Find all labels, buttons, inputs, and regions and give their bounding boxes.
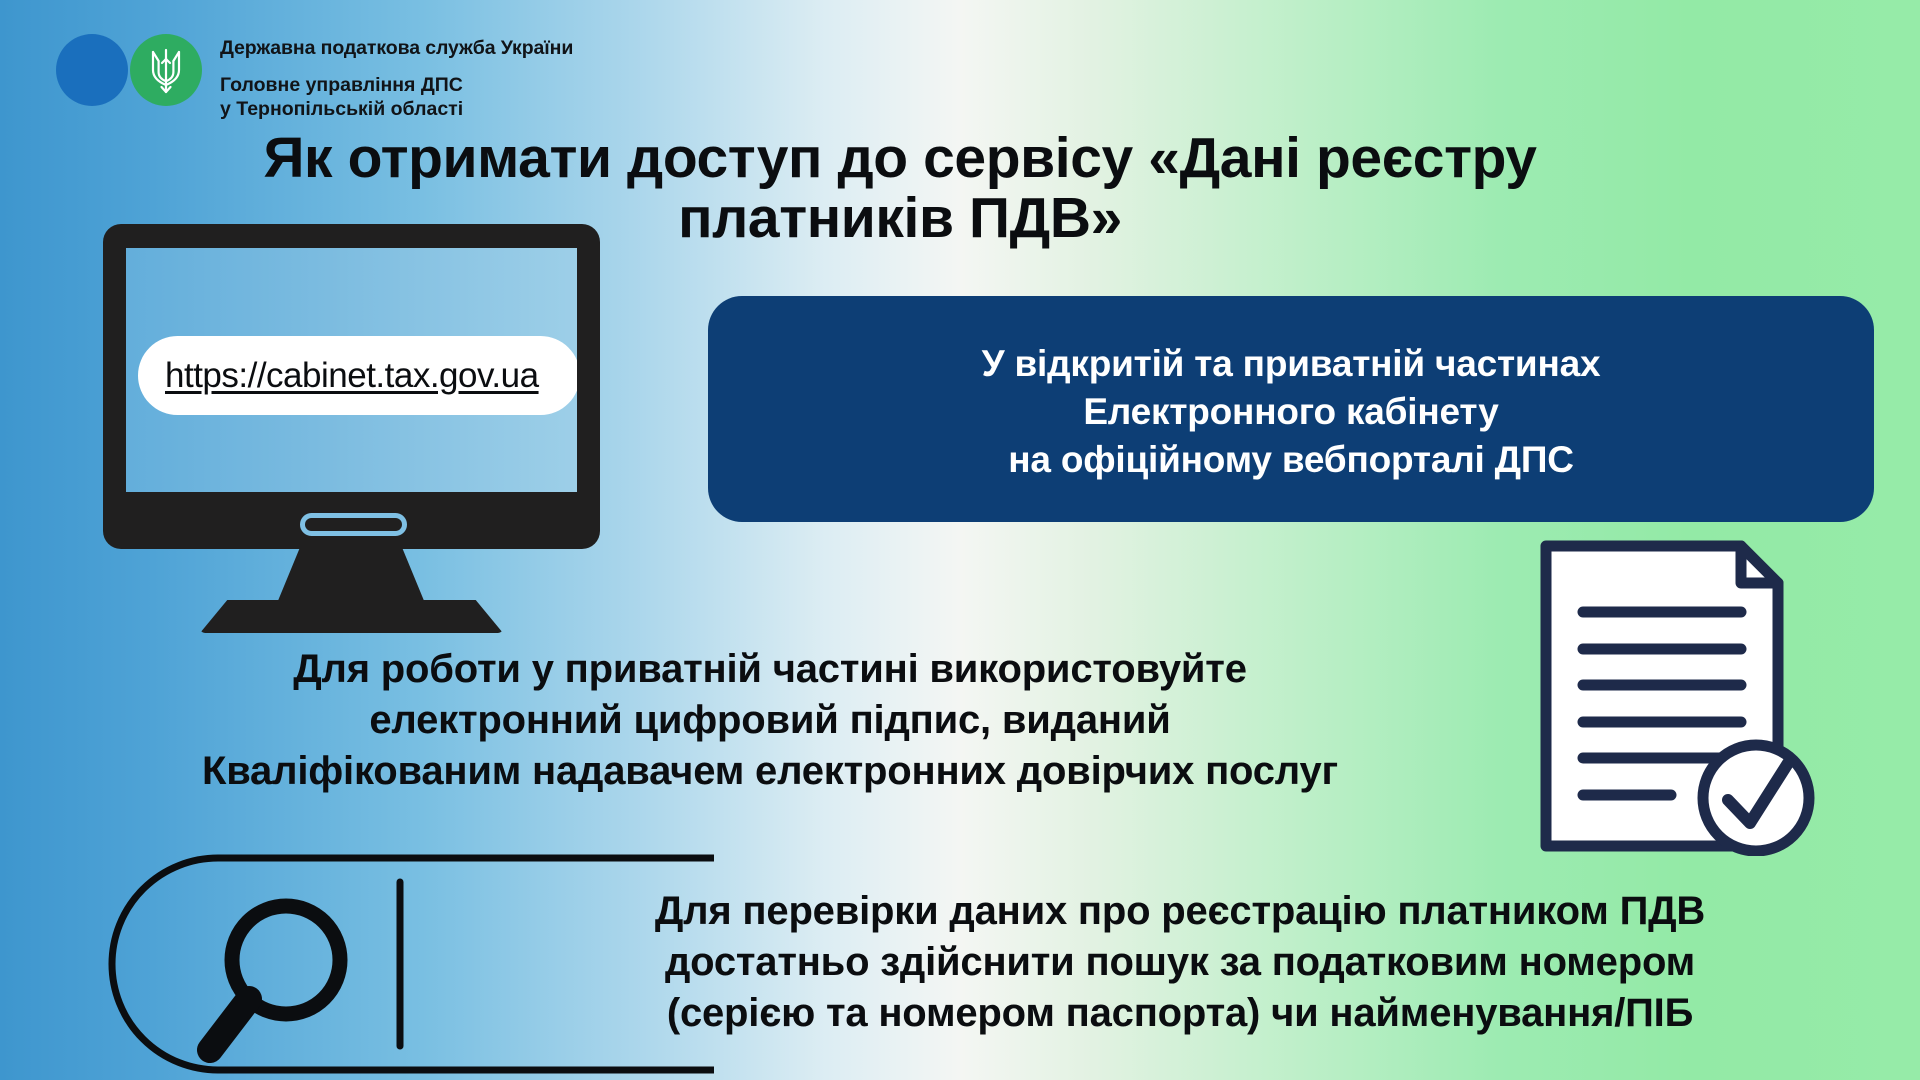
callout-text: У відкритій та приватній частинах Електр…	[982, 340, 1601, 484]
logo-green-circle-icon	[130, 34, 202, 106]
callout-line-2: Електронного кабінету	[982, 388, 1601, 436]
url-text: https://cabinet.tax.gov.ua	[165, 356, 539, 396]
agency-name-regional-line2: у Тернопільській області	[220, 98, 573, 122]
desktop-monitor-illustration: https://cabinet.tax.gov.ua	[103, 224, 600, 624]
digital-signature-paragraph: Для роботи у приватній частині використо…	[0, 644, 1540, 798]
agency-name-national: Державна податкова служба України	[220, 38, 573, 60]
agency-logo	[52, 18, 214, 104]
callout-line-3: на офіційному вебпорталі ДПС	[982, 436, 1601, 484]
vat-search-line-3: (серією та номером паспорта) чи найменув…	[450, 988, 1910, 1039]
agency-name-regional-line1: Головне управління ДПС	[220, 74, 573, 98]
logo-blue-circle-icon	[56, 34, 128, 106]
monitor-stand-base	[200, 600, 503, 633]
monitor-power-button-icon	[300, 513, 407, 536]
digital-signature-line-1: Для роботи у приватній частині використо…	[0, 644, 1540, 695]
document-with-check-icon	[1536, 536, 1826, 856]
page-title-line-1: Як отримати доступ до сервісу «Дані реєс…	[200, 128, 1600, 188]
vat-search-paragraph: Для перевірки даних про реєстрацію платн…	[450, 886, 1910, 1040]
monitor-screen: https://cabinet.tax.gov.ua	[126, 248, 577, 492]
digital-signature-line-2: електронний цифровий підпис, виданий	[0, 695, 1540, 746]
callout-line-1: У відкритій та приватній частинах	[982, 340, 1601, 388]
header-branding: Державна податкова служба України Головн…	[52, 18, 573, 121]
vat-search-line-2: достатньо здійснити пошук за податковим …	[450, 937, 1910, 988]
digital-signature-line-3: Кваліфікованим надавачем електронних дов…	[0, 746, 1540, 797]
monitor-stand-neck	[275, 549, 427, 608]
agency-name-block: Державна податкова служба України Головн…	[220, 18, 573, 121]
vat-search-line-1: Для перевірки даних про реєстрацію платн…	[450, 886, 1910, 937]
callout-box-electronic-cabinet: У відкритій та приватній частинах Електр…	[708, 296, 1874, 522]
url-address-pill[interactable]: https://cabinet.tax.gov.ua	[138, 336, 577, 415]
ukraine-trident-icon	[147, 44, 185, 96]
